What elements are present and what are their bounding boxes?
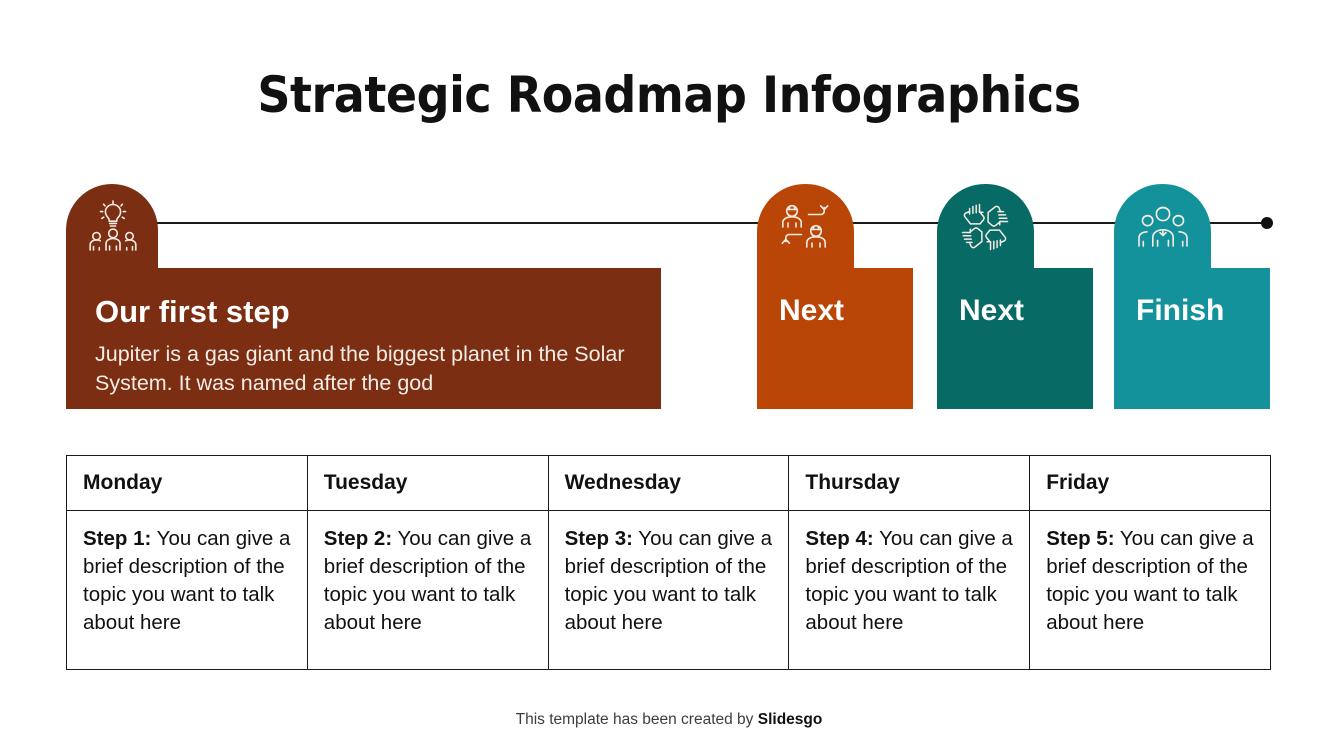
table-header-row: Monday Tuesday Wednesday Thursday Friday xyxy=(67,456,1271,511)
table-cell-step-1[interactable]: Step 1: You can give a brief description… xyxy=(67,511,308,670)
step-1-heading: Our first step xyxy=(95,294,290,330)
schedule-table: Monday Tuesday Wednesday Thursday Friday… xyxy=(66,455,1271,670)
group-people-icon xyxy=(1136,202,1190,248)
timeline-end-dot-icon xyxy=(1261,217,1273,229)
page-title: Strategic Roadmap Infographics xyxy=(54,66,1285,124)
table-cell-step-2[interactable]: Step 2: You can give a brief description… xyxy=(307,511,548,670)
step-2-heading: Next xyxy=(779,294,844,328)
table-header-tuesday: Tuesday xyxy=(307,456,548,511)
table-cell-step-3[interactable]: Step 3: You can give a brief description… xyxy=(548,511,789,670)
step-5-label: Step 5: xyxy=(1046,527,1114,550)
slidesgo-brand-link[interactable]: Slidesgo xyxy=(758,711,823,728)
step-2-label: Step 2: xyxy=(324,527,392,550)
table-header-thursday: Thursday xyxy=(789,456,1030,511)
lightbulb-team-icon xyxy=(86,200,140,252)
table-header-monday: Monday xyxy=(67,456,308,511)
footer-credit: This template has been created by Slides… xyxy=(0,711,1338,729)
timeline-rail xyxy=(150,222,1268,224)
table-cell-step-4[interactable]: Step 4: You can give a brief description… xyxy=(789,511,1030,670)
table-cell-step-5[interactable]: Step 5: You can give a brief description… xyxy=(1030,511,1271,670)
footer-text: This template has been created by xyxy=(516,711,758,728)
table-header-friday: Friday xyxy=(1030,456,1271,511)
step-1-label: Step 1: xyxy=(83,527,151,550)
step-3-heading: Next xyxy=(959,294,1024,328)
four-hands-teamwork-icon xyxy=(959,202,1011,252)
table-row: Step 1: You can give a brief description… xyxy=(67,511,1271,670)
step-1-description: Jupiter is a gas giant and the biggest p… xyxy=(95,340,640,398)
table-header-wednesday: Wednesday xyxy=(548,456,789,511)
step-3-label: Step 3: xyxy=(565,527,633,550)
step-4-label: Step 4: xyxy=(805,527,873,550)
step-4-heading: Finish xyxy=(1136,294,1224,328)
people-exchange-icon xyxy=(779,202,831,252)
